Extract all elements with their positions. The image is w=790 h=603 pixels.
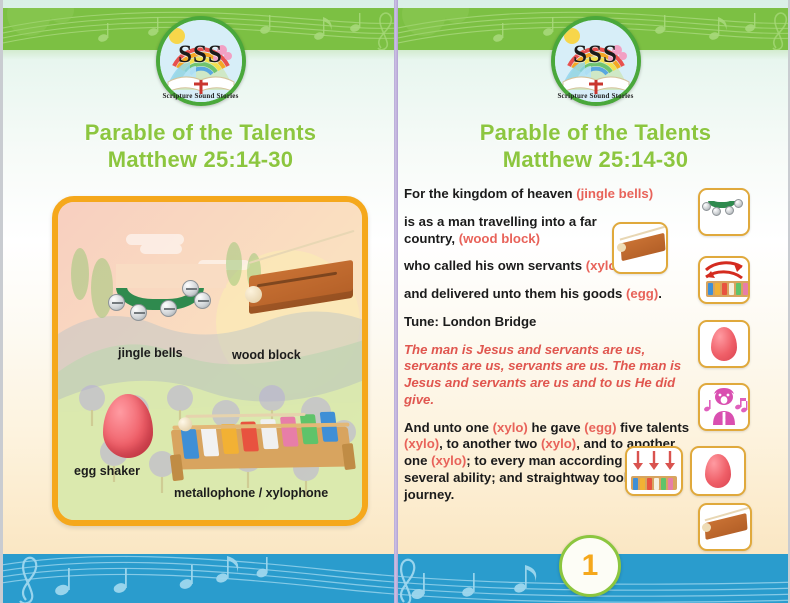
page-title-right: Parable of the Talents Matthew 25:14-30: [398, 120, 790, 174]
mallet-head-icon: [617, 243, 626, 252]
bell-icon: [702, 202, 711, 211]
instruments-illustration-card: jingle bells wood block egg shaker: [52, 196, 368, 526]
title-line-1: Parable of the Talents: [398, 120, 790, 147]
page-title-left: Parable of the Talents Matthew 25:14-30: [3, 120, 398, 174]
instrument-cue: (xylo): [431, 453, 466, 468]
verse-text: who called his own servants: [404, 258, 586, 273]
egg-shaker-icon: [711, 327, 737, 361]
xylophone-bar: [736, 283, 741, 295]
bell-icon: [712, 207, 721, 216]
thumb-wood-block-2[interactable]: [698, 503, 752, 551]
instrument-cue: (xylo): [493, 420, 528, 435]
thumb-jingle-bells[interactable]: [698, 188, 750, 236]
left-page-edge: [0, 0, 3, 603]
xylophone-bar: [715, 283, 720, 295]
xylophone-bar: [633, 478, 638, 490]
label-metallophone-xylophone: metallophone / xylophone: [174, 486, 328, 500]
left-page: SSS Scripture Sound Stories Parable of t…: [3, 0, 398, 603]
thumb-egg-shaker-2[interactable]: [690, 446, 746, 496]
xylophone-bar: [661, 478, 666, 490]
logo-monogram: SSS: [551, 42, 641, 67]
instrument-cue: (xylo): [404, 436, 439, 451]
wood-block-illustration: [243, 252, 361, 318]
verse-line-1: For the kingdom of heaven (jingle bells): [404, 186, 696, 203]
book-spine-divider: [394, 0, 398, 603]
tune-heading: Tune: London Bridge: [404, 314, 696, 331]
bell-icon: [725, 206, 734, 215]
verse-text: five talents: [617, 420, 690, 435]
wood-block-body-icon: [249, 260, 353, 314]
verse-text: For the kingdom of heaven: [404, 186, 576, 201]
xylophone-bar: [280, 417, 299, 447]
label-jingle-bells: jingle bells: [118, 346, 183, 360]
label-egg-shaker: egg shaker: [74, 464, 140, 478]
thumb-egg-shaker-1[interactable]: [698, 320, 750, 368]
verse-text: .: [658, 286, 662, 301]
bell-icon: [194, 292, 211, 309]
thumb-xylophone-glissando[interactable]: [698, 256, 750, 304]
xylophone-bar: [300, 414, 319, 444]
jingle-bells-icon: [700, 190, 744, 218]
page-number-badge: 1: [559, 535, 621, 597]
xylophone-bar: [640, 478, 645, 490]
xylophone-icon: [706, 281, 750, 297]
instrument-cue: (xylo): [541, 436, 576, 451]
xylophone-bar: [729, 283, 734, 295]
lesson-spread: SSS Scripture Sound Stories Parable of t…: [0, 0, 790, 603]
xylophone-bar: [647, 478, 652, 490]
verse-text: he gave: [528, 420, 584, 435]
bell-icon: [160, 300, 177, 317]
xylophone-bar: [743, 283, 748, 295]
xylophone-bar: [654, 478, 659, 490]
thumb-xylophone-three-strikes[interactable]: [625, 446, 683, 496]
verse-text: , to another two: [439, 436, 541, 451]
logo-monogram: SSS: [156, 42, 246, 67]
singing-child-icon: [700, 385, 748, 429]
bell-icon: [734, 199, 743, 208]
verse-line-2: is as a man travelling into a far countr…: [404, 214, 600, 248]
instrument-cue: (wood block): [459, 231, 540, 246]
instrument-cue: (egg): [626, 286, 658, 301]
thumb-wood-block-1[interactable]: [612, 222, 668, 274]
tune-lyrics: The man is Jesus and servants are us, se…: [404, 342, 696, 409]
egg-shaker-icon: [705, 454, 731, 488]
verse-line-4: and delivered unto them his goods (egg).: [404, 286, 696, 303]
title-line-1: Parable of the Talents: [3, 120, 398, 147]
logo-left: SSS Scripture Sound Stories: [156, 16, 246, 106]
xylophone-icon: [631, 476, 677, 490]
logo-band-text: Scripture Sound Stories: [551, 92, 641, 100]
title-line-2: Matthew 25:14-30: [398, 147, 790, 174]
xylophone-leg-icon: [342, 443, 356, 470]
logo-right: SSS Scripture Sound Stories: [551, 16, 641, 106]
mallet-head-icon: [702, 523, 711, 532]
logo-band-text: Scripture Sound Stories: [156, 92, 246, 100]
bell-icon: [130, 304, 147, 321]
jingle-bells-illustration: [108, 260, 212, 322]
xylophone-bar: [722, 283, 727, 295]
thumb-sing[interactable]: [698, 383, 750, 431]
verse-text: And unto one: [404, 420, 493, 435]
three-down-arrows-icon: [627, 448, 681, 474]
instrument-cue: (jingle bells): [576, 186, 653, 201]
bell-icon: [108, 294, 125, 311]
xylophone-bar: [668, 478, 673, 490]
instrument-cue: (egg): [584, 420, 616, 435]
xylophone-bar: [708, 283, 713, 295]
verse-text: and delivered unto them his goods: [404, 286, 626, 301]
mallet-head-icon: [245, 286, 262, 303]
page-number: 1: [582, 551, 599, 581]
label-wood-block: wood block: [232, 348, 301, 362]
title-line-2: Matthew 25:14-30: [3, 147, 398, 174]
